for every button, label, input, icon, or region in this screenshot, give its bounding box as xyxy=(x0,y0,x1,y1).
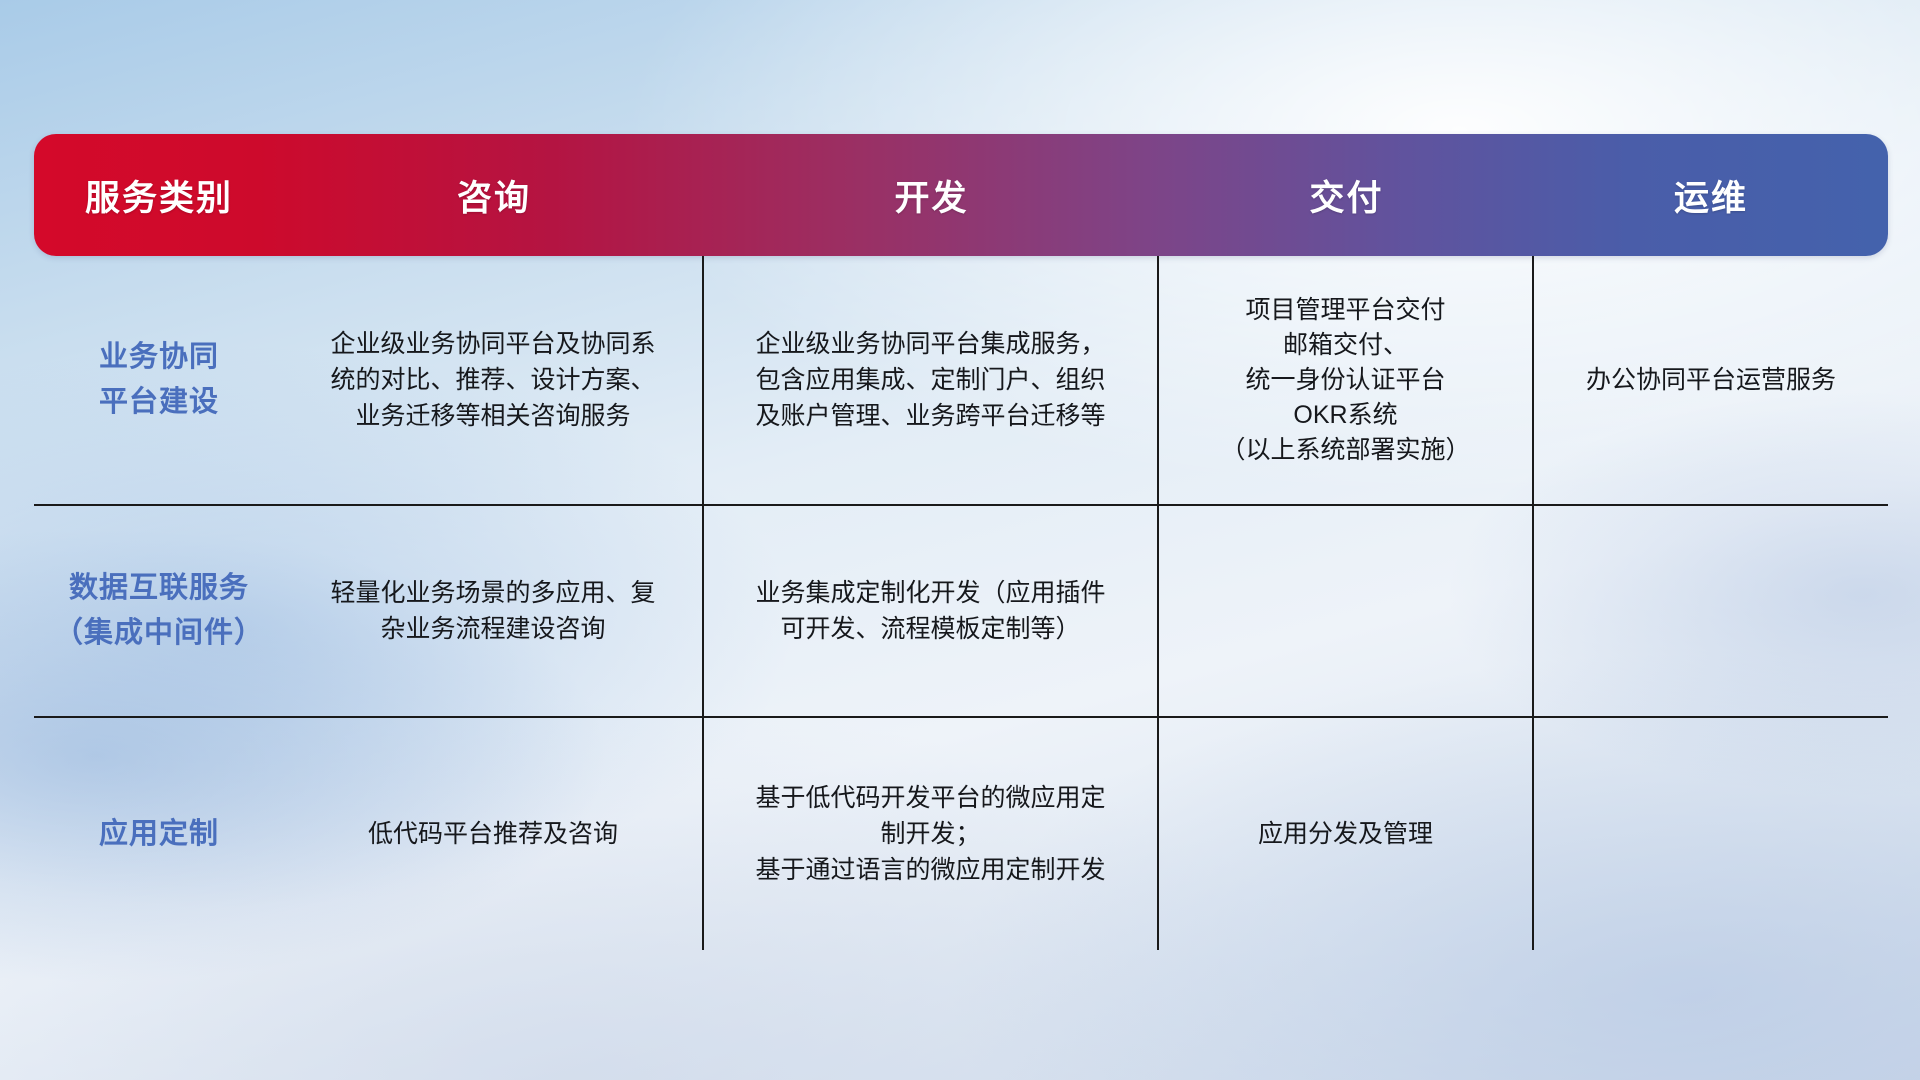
header-cell-operations: 运维 xyxy=(1534,170,1888,221)
header-cell-service-category: 服务类别 xyxy=(34,170,284,221)
row-2-consulting-text: 轻量化业务场景的多应用、复 杂业务流程建设咨询 xyxy=(330,575,655,647)
row-2-development-cell: 业务集成定制化开发（应用插件 可开发、流程模板定制等） xyxy=(704,506,1159,716)
row-1-category-label: 业务协同 平台建设 xyxy=(99,335,219,425)
row-1-consulting-cell: 企业级业务协同平台及协同系 统的对比、推荐、设计方案、 业务迁移等相关咨询服务 xyxy=(284,256,704,504)
header-cell-development: 开发 xyxy=(704,170,1159,221)
table-row: 应用定制 低代码平台推荐及咨询 基于低代码开发平台的微应用定 制开发； 基于通过… xyxy=(34,718,1888,950)
row-3-consulting-cell: 低代码平台推荐及咨询 xyxy=(284,718,704,950)
row-3-category-cell: 应用定制 xyxy=(34,718,284,950)
row-3-consulting-text: 低代码平台推荐及咨询 xyxy=(368,816,618,852)
header-cell-delivery: 交付 xyxy=(1159,170,1534,221)
row-2-delivery-cell xyxy=(1159,506,1534,716)
row-3-development-text: 基于低代码开发平台的微应用定 制开发； 基于通过语言的微应用定制开发 xyxy=(755,780,1105,888)
row-1-development-cell: 企业级业务协同平台集成服务， 包含应用集成、定制门户、组织 及账户管理、业务跨平… xyxy=(704,256,1159,504)
row-2-category-label: 数据互联服务 （集成中间件） xyxy=(54,566,264,656)
row-1-delivery-cell: 项目管理平台交付 邮箱交付、 统一身份认证平台 OKR系统 （以上系统部署实施） xyxy=(1159,256,1534,504)
row-1-category-cell: 业务协同 平台建设 xyxy=(34,256,284,504)
row-1-delivery-text: 项目管理平台交付 邮箱交付、 统一身份认证平台 OKR系统 （以上系统部署实施） xyxy=(1220,293,1470,468)
row-3-operations-cell xyxy=(1534,718,1888,950)
row-3-delivery-text: 应用分发及管理 xyxy=(1258,816,1433,852)
row-2-operations-cell xyxy=(1534,506,1888,716)
row-1-operations-cell: 办公协同平台运营服务 xyxy=(1534,256,1888,504)
service-matrix-table: 服务类别 咨询 开发 交付 运维 业务协同 平台建设 企业级业务协同平台及协同系… xyxy=(34,134,1888,952)
header-cell-consulting: 咨询 xyxy=(284,170,704,221)
row-2-development-text: 业务集成定制化开发（应用插件 可开发、流程模板定制等） xyxy=(755,575,1105,647)
row-3-delivery-cell: 应用分发及管理 xyxy=(1159,718,1534,950)
row-3-development-cell: 基于低代码开发平台的微应用定 制开发； 基于通过语言的微应用定制开发 xyxy=(704,718,1159,950)
row-1-development-text: 企业级业务协同平台集成服务， 包含应用集成、定制门户、组织 及账户管理、业务跨平… xyxy=(755,326,1105,434)
row-1-consulting-text: 企业级业务协同平台及协同系 统的对比、推荐、设计方案、 业务迁移等相关咨询服务 xyxy=(330,326,655,434)
row-1-operations-text: 办公协同平台运营服务 xyxy=(1586,362,1836,398)
table-row: 数据互联服务 （集成中间件） 轻量化业务场景的多应用、复 杂业务流程建设咨询 业… xyxy=(34,506,1888,718)
table-body: 业务协同 平台建设 企业级业务协同平台及协同系 统的对比、推荐、设计方案、 业务… xyxy=(34,256,1888,952)
table-header-row: 服务类别 咨询 开发 交付 运维 xyxy=(34,134,1888,256)
row-2-consulting-cell: 轻量化业务场景的多应用、复 杂业务流程建设咨询 xyxy=(284,506,704,716)
row-2-category-cell: 数据互联服务 （集成中间件） xyxy=(34,506,284,716)
row-3-category-label: 应用定制 xyxy=(99,812,219,857)
table-row: 业务协同 平台建设 企业级业务协同平台及协同系 统的对比、推荐、设计方案、 业务… xyxy=(34,256,1888,506)
